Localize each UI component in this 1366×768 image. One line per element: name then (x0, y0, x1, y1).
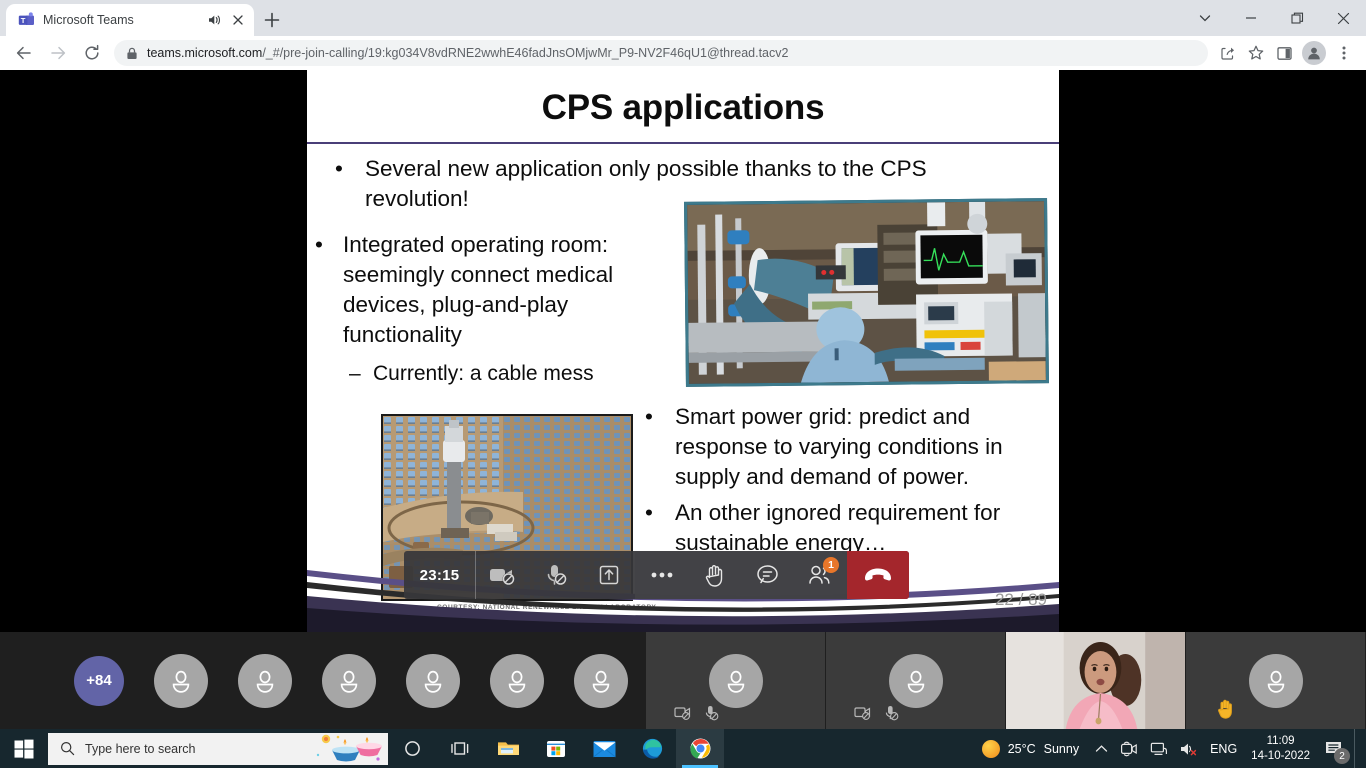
windows-start-icon[interactable] (0, 729, 48, 768)
windows-taskbar: Type here to search (0, 729, 1366, 768)
file-explorer-button[interactable] (484, 729, 532, 768)
participant-avatar (709, 654, 763, 708)
search-icon (60, 741, 75, 756)
participant-avatar (889, 654, 943, 708)
screen: T Microsoft Teams (0, 0, 1366, 768)
show-desktop-button[interactable] (1354, 729, 1362, 768)
lock-icon (126, 47, 138, 60)
slide-bullet-4: • An other ignored requirement for susta… (645, 498, 1045, 558)
weather-widget[interactable]: 25°C Sunny (968, 740, 1089, 758)
avatar-pill-strip: +84 (0, 632, 645, 729)
microsoft-store-button[interactable] (532, 729, 580, 768)
call-actions-group: 1 (635, 551, 847, 599)
new-tab-button[interactable] (258, 6, 286, 34)
task-view-button[interactable] (436, 729, 484, 768)
cortana-button[interactable] (388, 729, 436, 768)
participant-tile-2[interactable] (825, 632, 1005, 729)
tray-overflow-button[interactable] (1089, 729, 1114, 768)
slide-bullet-1: • Several new application only possible … (335, 154, 1035, 214)
participant-tile-4[interactable] (1185, 632, 1365, 729)
participant-avatar[interactable] (322, 654, 376, 708)
microphone-off-icon (704, 705, 719, 721)
svg-text:T: T (21, 16, 26, 25)
bookmark-star-icon[interactable] (1242, 39, 1270, 67)
participant-avatar[interactable] (154, 654, 208, 708)
slide-bullet-3: • Smart power grid: predict and response… (645, 402, 1045, 492)
call-timer: 23:15 (404, 551, 476, 599)
clock-time: 11:09 (1251, 734, 1310, 749)
share-icon[interactable] (1214, 39, 1242, 67)
browser-tab-strip: T Microsoft Teams (0, 0, 1366, 36)
system-tray: 25°C Sunny (968, 729, 1366, 768)
bullet-marker: • (645, 498, 675, 558)
participant-tile-1[interactable] (645, 632, 825, 729)
share-screen-button[interactable] (582, 551, 635, 599)
bullet-text: Currently: a cable mess (373, 360, 594, 388)
language-label: ENG (1210, 742, 1237, 756)
people-button[interactable]: 1 (794, 551, 847, 599)
language-indicator[interactable]: ENG (1204, 729, 1243, 768)
bullet-text: Integrated operating room: seemingly con… (343, 230, 645, 350)
three-dot-menu-icon[interactable] (1330, 39, 1358, 67)
forward-button[interactable] (42, 38, 74, 68)
bullet-marker: • (645, 402, 675, 492)
meet-now-icon[interactable] (1114, 729, 1144, 768)
slide-page-indicator: 22 / 89 (995, 590, 1047, 610)
edge-button[interactable] (628, 729, 676, 768)
taskbar-search-box[interactable]: Type here to search (48, 733, 388, 765)
bullet-marker: • (315, 230, 343, 350)
bullet-text: Smart power grid: predict and response t… (675, 402, 1045, 492)
microphone-off-icon (884, 705, 899, 721)
speaker-playing-icon[interactable] (206, 12, 222, 28)
participant-tile-3[interactable] (1005, 632, 1185, 729)
diwali-diyas-icon (310, 733, 384, 765)
minimize-button[interactable] (1228, 0, 1274, 36)
meeting-stage: CPS applications (0, 70, 1366, 632)
weather-temperature: 25°C (1008, 742, 1036, 756)
participant-avatar[interactable] (406, 654, 460, 708)
browser-toolbar: teams.microsoft.com/_#/pre-join-calling/… (0, 36, 1366, 70)
tile-status-icons (674, 705, 719, 721)
camera-off-icon (674, 705, 692, 721)
browser-tab[interactable]: T Microsoft Teams (6, 4, 254, 36)
bullet-text: An other ignored requirement for sustain… (675, 498, 1045, 558)
title-divider (307, 142, 1059, 144)
volume-muted-icon[interactable] (1173, 729, 1204, 768)
participant-avatar (1249, 654, 1303, 708)
chevron-down-icon[interactable] (1182, 0, 1228, 36)
tab-title: Microsoft Teams (43, 13, 198, 27)
reload-button[interactable] (76, 38, 108, 68)
url-domain: teams.microsoft.com (147, 46, 262, 60)
shared-slide[interactable]: CPS applications (307, 70, 1059, 632)
bullet-text: Several new application only possible th… (365, 154, 1035, 214)
overflow-participants-badge[interactable]: +84 (74, 656, 124, 706)
network-icon[interactable] (1144, 729, 1173, 768)
url-path: /_#/pre-join-calling/19:kg034V8vdRNE2wwh… (262, 46, 788, 60)
tile-status-icons (854, 705, 899, 721)
bullet-marker: • (335, 154, 365, 214)
people-count-badge: 1 (823, 557, 839, 573)
bullet-marker: – (349, 360, 373, 388)
search-placeholder: Type here to search (85, 742, 195, 756)
mic-off-button[interactable] (529, 551, 582, 599)
clock-date: 14-10-2022 (1251, 749, 1310, 764)
page-total: 89 (1028, 590, 1047, 609)
slide-title: CPS applications (307, 88, 1059, 128)
back-button[interactable] (8, 38, 40, 68)
camera-off-button[interactable] (476, 551, 529, 599)
raised-hand-icon (1216, 697, 1236, 719)
sun-icon (982, 740, 1000, 758)
participant-avatar[interactable] (490, 654, 544, 708)
participant-avatar[interactable] (574, 654, 628, 708)
tab-close-icon[interactable] (230, 12, 246, 28)
slide-bullet-2: • Integrated operating room: seemingly c… (315, 230, 645, 350)
notification-center-button[interactable]: 2 (1318, 729, 1354, 768)
taskbar-clock[interactable]: 11:09 14-10-2022 (1243, 734, 1318, 764)
participant-video-feed (1006, 632, 1185, 729)
side-panel-icon[interactable] (1270, 39, 1298, 67)
slide-bullet-2-sub: – Currently: a cable mess (349, 360, 669, 388)
raise-hand-button[interactable] (688, 551, 741, 599)
notification-count-badge: 2 (1334, 748, 1350, 764)
more-options-button[interactable] (635, 551, 688, 599)
operating-room-photo (684, 198, 1049, 387)
close-window-button[interactable] (1320, 0, 1366, 36)
chrome-button[interactable] (676, 729, 724, 768)
window-controls (1182, 0, 1366, 36)
page-separator: / (1019, 590, 1024, 609)
chat-button[interactable] (741, 551, 794, 599)
profile-avatar-icon[interactable] (1302, 41, 1326, 65)
address-bar[interactable]: teams.microsoft.com/_#/pre-join-calling/… (114, 40, 1208, 66)
maximize-restore-button[interactable] (1274, 0, 1320, 36)
camera-off-icon (854, 705, 872, 721)
page-current: 22 (995, 590, 1014, 609)
teams-favicon: T (18, 12, 35, 29)
call-control-bar: 23:15 (404, 551, 909, 599)
mail-button[interactable] (580, 729, 628, 768)
hangup-button[interactable] (847, 551, 909, 599)
url-text: teams.microsoft.com/_#/pre-join-calling/… (147, 46, 788, 60)
participant-filmstrip: +84 (0, 632, 1366, 729)
weather-description: Sunny (1044, 742, 1079, 756)
participant-avatar[interactable] (238, 654, 292, 708)
